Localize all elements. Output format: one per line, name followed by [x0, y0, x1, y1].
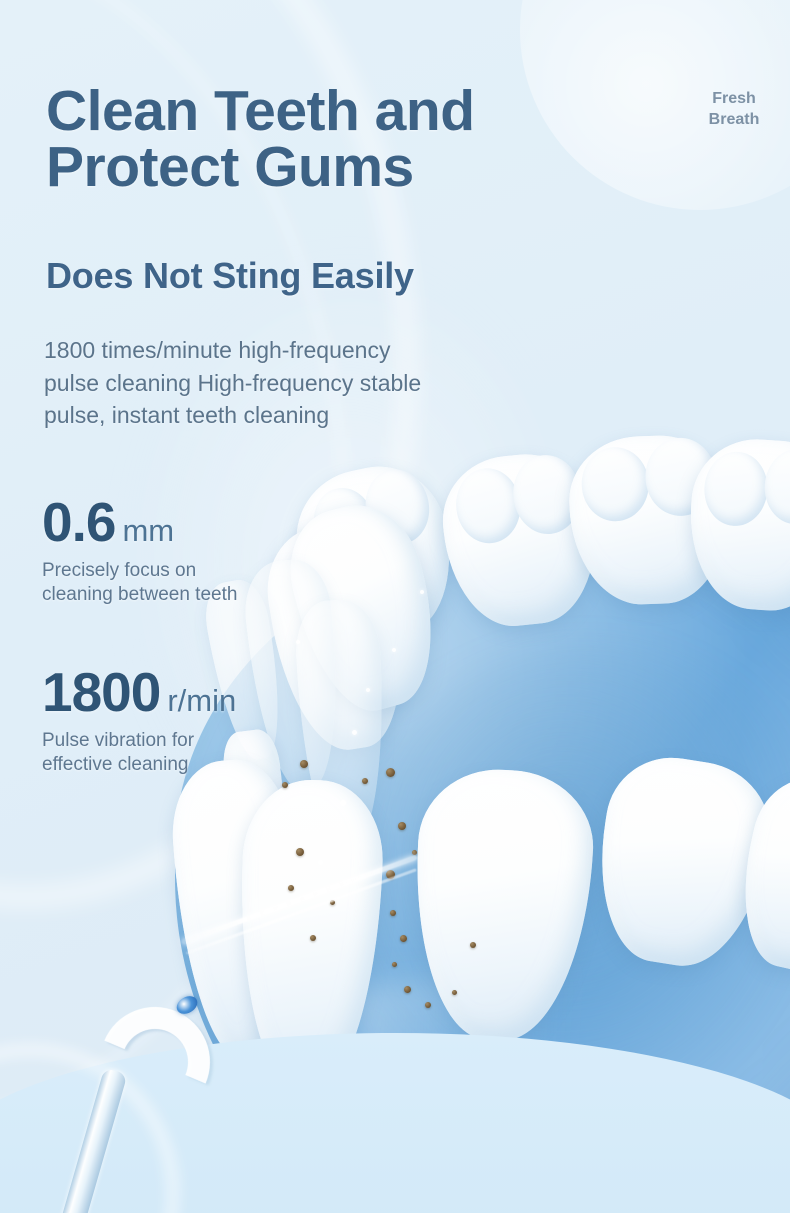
fresh-breath-badge: Fresh Breath [688, 88, 780, 130]
spec-description: Pulse vibration for effective cleaning [42, 729, 236, 778]
spec-value-row: 1800 r/min [42, 660, 236, 724]
page-title: Clean Teeth and Protect Gums [46, 84, 475, 196]
spec-value: 1800 [42, 660, 160, 724]
product-poster: Clean Teeth and Protect Gums Does Not St… [0, 0, 790, 1213]
page-subtitle: Does Not Sting Easily [46, 255, 414, 297]
text-layer: Clean Teeth and Protect Gums Does Not St… [0, 0, 790, 1213]
spec-value-row: 0.6 mm [42, 490, 237, 554]
body-description: 1800 times/minute high-frequency pulse c… [44, 334, 421, 432]
spec-value: 0.6 [42, 490, 115, 554]
spec-unit: mm [122, 513, 174, 549]
spec-unit: r/min [167, 683, 236, 719]
spec-block-precision: 0.6 mm Precisely focus on cleaning betwe… [42, 490, 237, 608]
spec-description: Precisely focus on cleaning between teet… [42, 559, 237, 608]
spec-block-frequency: 1800 r/min Pulse vibration for effective… [42, 660, 236, 778]
